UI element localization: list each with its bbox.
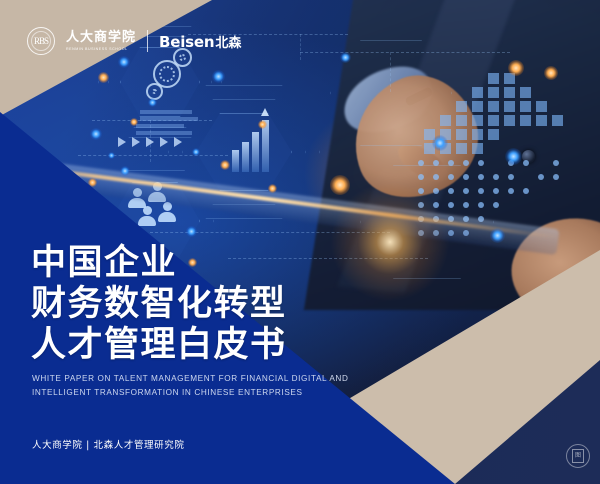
data-grid-icon xyxy=(463,188,469,194)
data-grid-icon xyxy=(418,174,424,180)
glow-node xyxy=(90,128,102,140)
logo-divider xyxy=(147,30,148,52)
data-grid-icon xyxy=(136,124,184,128)
data-grid-icon xyxy=(456,129,467,140)
title-line-2: 财务数智化转型 xyxy=(31,284,287,325)
glow-node xyxy=(258,120,267,129)
data-grid-icon xyxy=(523,188,529,194)
glow-node xyxy=(118,56,130,68)
glow-node xyxy=(490,228,505,243)
data-grid-icon xyxy=(493,188,499,194)
white-paper-cover: RBS 人大商学院 RENMIN BUSINESS SCHOOL Beisen … xyxy=(0,0,600,484)
arrow-right-icon xyxy=(160,137,168,147)
connector-line xyxy=(300,52,510,53)
data-grid-icon xyxy=(456,143,467,154)
seal-glyph: RBS xyxy=(34,37,48,46)
data-grid-icon xyxy=(538,174,544,180)
glow-node xyxy=(268,184,277,193)
glow-node xyxy=(220,160,230,170)
glow-node xyxy=(505,148,522,165)
connector-line xyxy=(390,52,391,92)
data-grid-icon xyxy=(508,174,514,180)
title-line-3: 人才管理白皮书 xyxy=(31,325,287,366)
connector-line xyxy=(300,34,301,60)
glow-node xyxy=(186,226,197,237)
data-grid-icon xyxy=(520,101,531,112)
data-grid-icon xyxy=(553,160,559,166)
data-grid-icon xyxy=(523,160,529,166)
data-grid-icon xyxy=(472,87,483,98)
arrow-right-icon xyxy=(174,137,182,147)
english-subtitle: WHITE PAPER ON TALENT MANAGEMENT FOR FIN… xyxy=(32,372,362,399)
data-grid-icon xyxy=(456,115,467,126)
rmbs-wordmark: 人大商学院 RENMIN BUSINESS SCHOOL xyxy=(66,31,136,52)
data-grid-icon xyxy=(478,174,484,180)
beisen-latin: Beisen xyxy=(159,33,214,51)
data-grid-icon xyxy=(552,115,563,126)
rmbs-name-en: RENMIN BUSINESS SCHOOL xyxy=(66,46,136,52)
watermark-glyph: 图 xyxy=(572,449,584,463)
data-grid-icon xyxy=(463,174,469,180)
data-grid-icon xyxy=(504,101,515,112)
data-grid-icon xyxy=(456,101,467,112)
glow-node xyxy=(148,98,157,107)
data-grid-icon xyxy=(478,188,484,194)
bar-chart-icon xyxy=(232,150,239,172)
arrow-up-icon xyxy=(261,108,269,116)
bar-chart-icon xyxy=(252,132,259,172)
arrow-right-icon xyxy=(146,137,154,147)
data-grid-icon xyxy=(472,101,483,112)
data-grid-icon xyxy=(488,73,499,84)
data-grid-icon xyxy=(553,174,559,180)
data-grid-icon xyxy=(472,115,483,126)
data-grid-icon xyxy=(520,115,531,126)
data-grid-icon xyxy=(472,143,483,154)
data-grid-icon xyxy=(536,101,547,112)
data-grid-icon xyxy=(448,160,454,166)
glow-node xyxy=(192,148,200,156)
glow-node xyxy=(130,118,138,126)
data-grid-icon xyxy=(520,87,531,98)
footer-credit: 人大商学院 | 北森人才管理研究院 xyxy=(32,437,184,451)
data-grid-icon xyxy=(463,160,469,166)
glow-node xyxy=(544,66,558,80)
data-grid-icon xyxy=(418,188,424,194)
data-grid-icon xyxy=(488,87,499,98)
data-grid-icon xyxy=(418,160,424,166)
glow-node xyxy=(98,72,109,83)
data-grid-icon xyxy=(433,160,439,166)
beisen-cn: 北森 xyxy=(215,32,241,51)
glow-node xyxy=(330,175,350,195)
logo-row: RBS 人大商学院 RENMIN BUSINESS SCHOOL Beisen … xyxy=(27,27,241,55)
title-line-1: 中国企业 xyxy=(31,243,287,284)
data-grid-icon xyxy=(488,129,499,140)
page-title: 中国企业 财务数智化转型 人才管理白皮书 xyxy=(31,243,287,366)
data-grid-icon xyxy=(448,174,454,180)
data-grid-icon xyxy=(448,188,454,194)
arrow-right-icon xyxy=(132,137,140,147)
data-grid-icon xyxy=(488,101,499,112)
glow-node xyxy=(212,70,225,83)
data-grid-icon xyxy=(504,87,515,98)
data-grid-icon xyxy=(140,110,192,114)
data-grid-icon xyxy=(433,174,439,180)
glow-node xyxy=(340,52,351,63)
data-grid-icon xyxy=(472,129,483,140)
bar-chart-icon xyxy=(242,142,249,172)
beisen-wordmark: Beisen 北森 xyxy=(159,32,241,51)
gear-icon xyxy=(146,83,163,100)
renmin-seal-icon: RBS xyxy=(27,27,55,55)
data-grid-icon xyxy=(478,160,484,166)
watermark-badge: 图 xyxy=(566,444,590,468)
data-grid-icon xyxy=(504,115,515,126)
data-grid-icon xyxy=(433,188,439,194)
data-grid-icon xyxy=(136,131,192,135)
glow-node xyxy=(508,60,524,76)
data-grid-icon xyxy=(493,174,499,180)
rmbs-name-cn: 人大商学院 xyxy=(66,31,136,45)
glow-node xyxy=(108,152,115,159)
glow-node xyxy=(120,166,130,176)
arrow-right-icon xyxy=(118,137,126,147)
data-grid-icon xyxy=(508,188,514,194)
data-grid-icon xyxy=(440,115,451,126)
data-grid-icon xyxy=(488,115,499,126)
data-grid-icon xyxy=(140,117,198,121)
glow-node xyxy=(432,135,448,151)
data-grid-icon xyxy=(536,115,547,126)
